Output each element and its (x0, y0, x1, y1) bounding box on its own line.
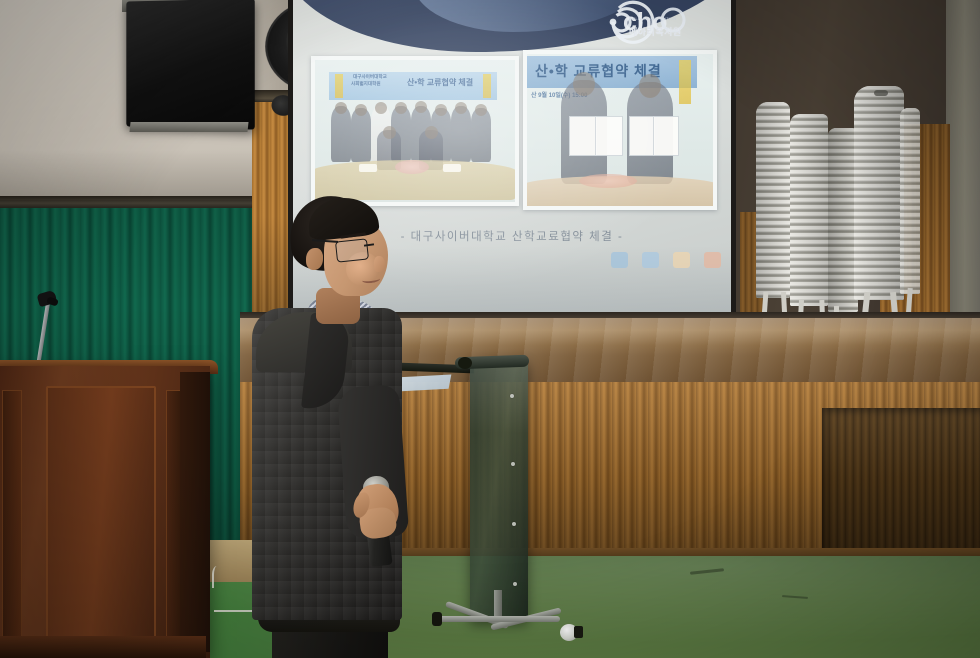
lectern-caster-bracket (574, 626, 583, 638)
presenter-ear (306, 248, 323, 270)
lectern-caster-left (432, 612, 442, 626)
chair-handle-slot (874, 90, 888, 96)
photograph-scene: EON cho (0, 0, 980, 658)
chair-stack-shading (756, 102, 790, 298)
chair-stack (790, 114, 828, 306)
podium-right-side (180, 372, 210, 652)
eyeglasses-lens (335, 238, 369, 262)
presenter (250, 196, 430, 658)
chair-stack-shading (854, 86, 904, 300)
lectern-top-knob (458, 357, 472, 369)
chair-stack (854, 86, 904, 300)
pa-speaker-cabinet: EON (126, 0, 254, 130)
chair-stack (900, 108, 920, 294)
stacked-plastic-chairs (752, 86, 960, 336)
presenter-nose (374, 256, 385, 272)
lectern-base-rail (436, 616, 560, 622)
lectern-panel-sheen (470, 360, 528, 622)
chair-stack (756, 102, 790, 298)
chair-stack-shading (900, 108, 920, 294)
podium-front-panel (46, 386, 156, 646)
chair-stack-shading (790, 114, 828, 306)
podium-left-panel (2, 390, 22, 644)
podium-base (0, 636, 206, 658)
speaker-mount-bracket-bottom (129, 122, 248, 132)
